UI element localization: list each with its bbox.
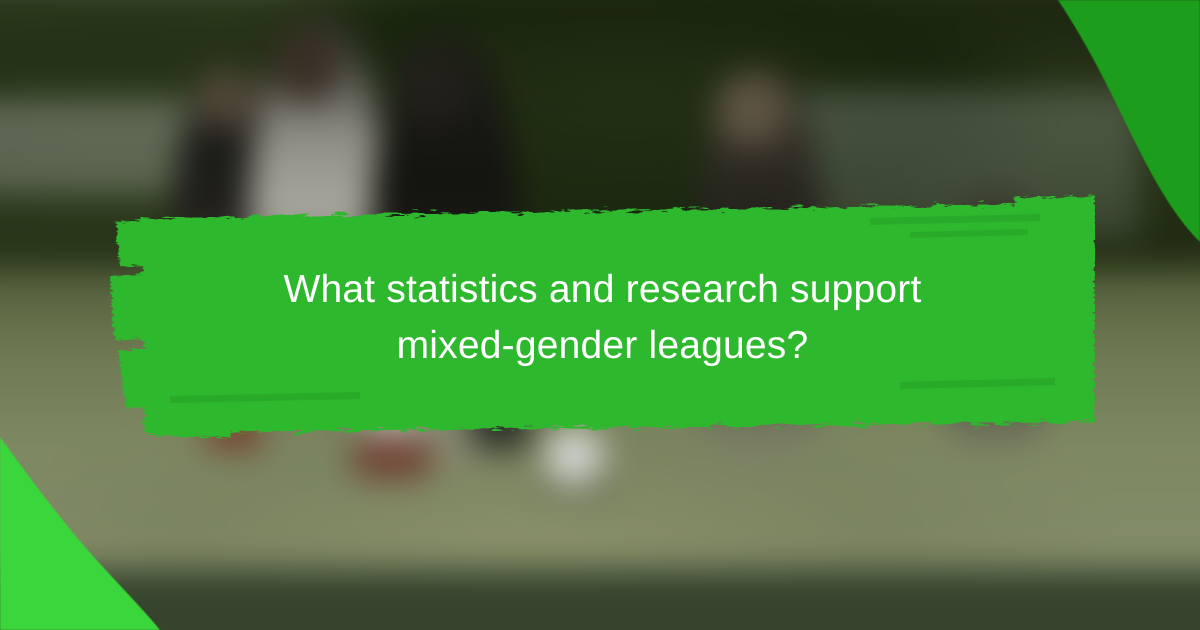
headline-line-2: mixed-gender leagues? (150, 318, 1055, 374)
page-title: What statistics and research support mix… (150, 262, 1055, 374)
question-card: What statistics and research support mix… (0, 0, 1200, 630)
headline-line-1: What statistics and research support (150, 262, 1055, 318)
